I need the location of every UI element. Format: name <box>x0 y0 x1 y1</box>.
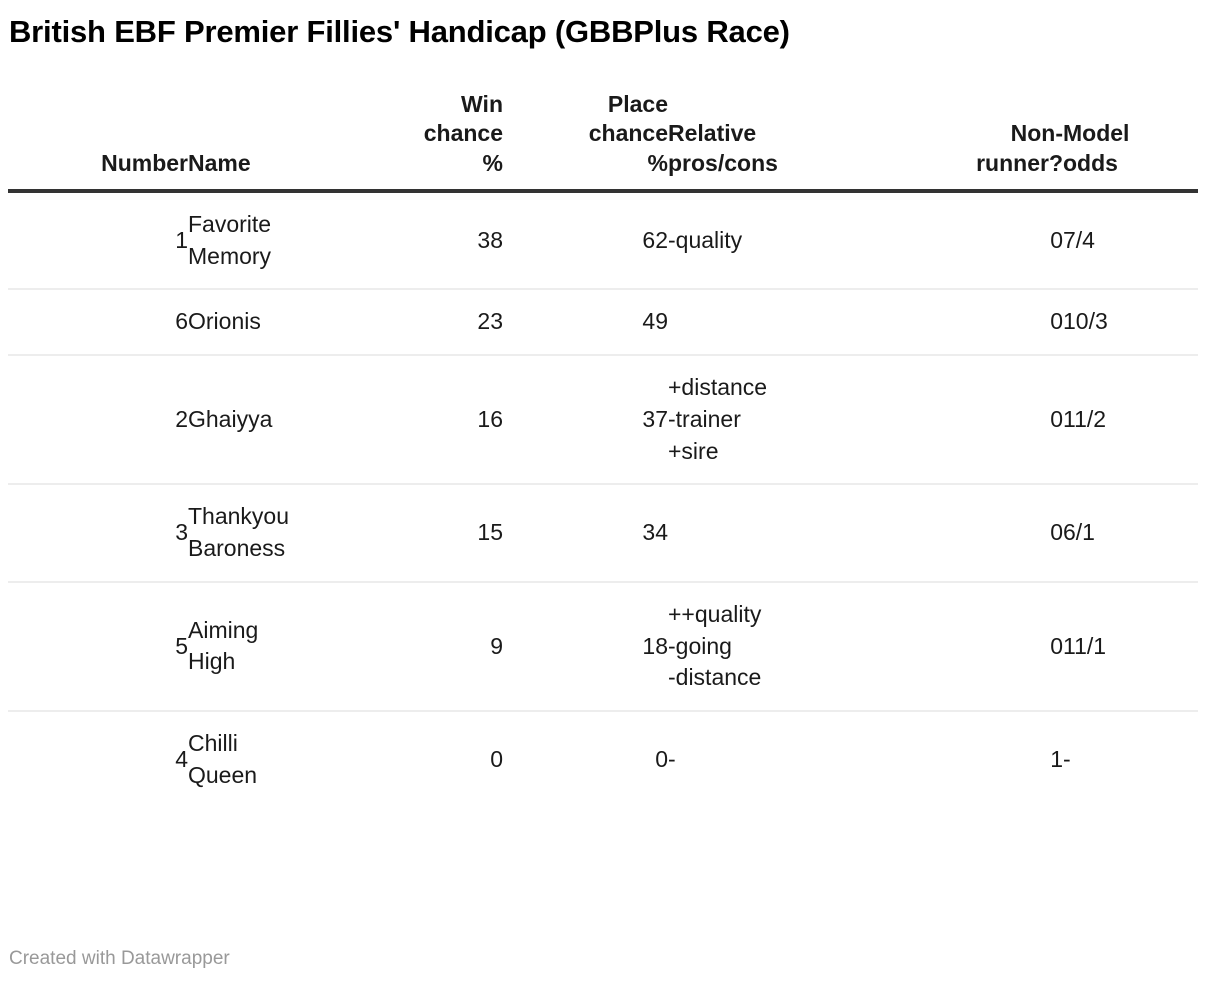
cell-win_chance: 0 <box>383 711 503 807</box>
table-row: 4Chilli Queen00-1- <box>8 711 1198 807</box>
cell-value: 2 <box>175 406 188 432</box>
cell-non_runner: 0 <box>918 355 1063 484</box>
cell-number: 4 <box>8 711 188 807</box>
cell-value: 38 <box>477 227 503 253</box>
cell-number: 6 <box>8 289 188 355</box>
cell-win_chance: 15 <box>383 484 503 581</box>
cell-value: 0 <box>1050 633 1063 659</box>
cell-value: 34 <box>642 519 668 545</box>
cell-pros_cons <box>668 484 918 581</box>
cell-value: - <box>1063 746 1071 772</box>
column-header-win_chance[interactable]: Win chance % <box>383 90 503 191</box>
cell-name: Chilli Queen <box>188 711 383 807</box>
column-header-label: Non- runner? <box>976 120 1063 175</box>
cell-value: Aiming High <box>188 617 258 675</box>
column-header-place_chance[interactable]: Place chance % <box>503 90 668 191</box>
cell-value: 11/1 <box>1063 633 1106 659</box>
cell-model_odds: 11/1 <box>1063 582 1198 711</box>
cell-value: 11/2 <box>1063 406 1106 432</box>
cell-value: 1 <box>1050 746 1063 772</box>
cell-value: 0 <box>1050 308 1063 334</box>
cell-value: 10/3 <box>1063 308 1108 334</box>
cell-value: 62 <box>642 227 668 253</box>
cell-model_odds: 10/3 <box>1063 289 1198 355</box>
cell-place_chance: 37 <box>503 355 668 484</box>
column-header-label: Relative pros/cons <box>668 120 778 175</box>
cell-value: 0 <box>1050 519 1063 545</box>
cell-value: Ghaiyya <box>188 406 272 432</box>
column-header-non_runner[interactable]: Non- runner? <box>918 90 1063 191</box>
cell-model_odds: 7/4 <box>1063 191 1198 289</box>
cell-pros_cons: -quality <box>668 191 918 289</box>
cell-model_odds: - <box>1063 711 1198 807</box>
cell-place_chance: 34 <box>503 484 668 581</box>
cell-value: 0 <box>655 746 668 772</box>
cell-value: - <box>668 746 676 772</box>
cell-value: 6 <box>175 308 188 334</box>
table-row: 3Thankyou Baroness153406/1 <box>8 484 1198 581</box>
cell-name: Favorite Memory <box>188 191 383 289</box>
table-header: NumberNameWin chance %Place chance %Rela… <box>8 90 1198 191</box>
cell-win_chance: 9 <box>383 582 503 711</box>
column-header-label: Number <box>101 150 188 176</box>
cell-value: 23 <box>477 308 503 334</box>
cell-place_chance: 18 <box>503 582 668 711</box>
table-row: 6Orionis2349010/3 <box>8 289 1198 355</box>
cell-number: 1 <box>8 191 188 289</box>
cell-value: -quality <box>668 227 742 253</box>
table-chart-container: British EBF Premier Fillies' Handicap (G… <box>0 0 1220 986</box>
column-header-label: Model odds <box>1063 120 1129 175</box>
cell-value: 6/1 <box>1063 519 1095 545</box>
cell-value: 49 <box>642 308 668 334</box>
cell-value: Thankyou Baroness <box>188 503 289 561</box>
column-header-label: Name <box>188 150 251 176</box>
cell-value: 18 <box>642 633 668 659</box>
cell-number: 2 <box>8 355 188 484</box>
cell-name: Aiming High <box>188 582 383 711</box>
table-row: 1Favorite Memory3862-quality07/4 <box>8 191 1198 289</box>
column-header-label: Place chance % <box>589 91 668 176</box>
cell-non_runner: 1 <box>918 711 1063 807</box>
cell-value: Chilli Queen <box>188 730 257 788</box>
cell-win_chance: 23 <box>383 289 503 355</box>
cell-value: 4 <box>175 746 188 772</box>
column-header-model_odds[interactable]: Model odds <box>1063 90 1198 191</box>
page-title: British EBF Premier Fillies' Handicap (G… <box>8 0 1212 50</box>
column-header-name[interactable]: Name <box>188 90 383 191</box>
cell-place_chance: 49 <box>503 289 668 355</box>
cell-value: ++quality -going -distance <box>668 601 761 690</box>
cell-value: 16 <box>477 406 503 432</box>
table-row: 5Aiming High918++quality -going -distanc… <box>8 582 1198 711</box>
cell-non_runner: 0 <box>918 582 1063 711</box>
cell-value: 0 <box>1050 406 1063 432</box>
cell-win_chance: 38 <box>383 191 503 289</box>
cell-number: 3 <box>8 484 188 581</box>
cell-pros_cons: - <box>668 711 918 807</box>
cell-value: 0 <box>1050 227 1063 253</box>
cell-pros_cons: ++quality -going -distance <box>668 582 918 711</box>
column-header-pros_cons[interactable]: Relative pros/cons <box>668 90 918 191</box>
cell-value: Orionis <box>188 308 261 334</box>
column-header-number[interactable]: Number <box>8 90 188 191</box>
race-runners-table: NumberNameWin chance %Place chance %Rela… <box>8 90 1198 808</box>
cell-value: +distance -trainer +sire <box>668 374 767 463</box>
cell-non_runner: 0 <box>918 289 1063 355</box>
cell-value: 0 <box>490 746 503 772</box>
table-row: 2Ghaiyya1637+distance -trainer +sire011/… <box>8 355 1198 484</box>
datawrapper-credit: Created with Datawrapper <box>9 948 230 970</box>
cell-place_chance: 62 <box>503 191 668 289</box>
cell-value: 1 <box>175 227 188 253</box>
cell-name: Thankyou Baroness <box>188 484 383 581</box>
cell-value: Favorite Memory <box>188 211 271 269</box>
cell-place_chance: 0 <box>503 711 668 807</box>
cell-model_odds: 6/1 <box>1063 484 1198 581</box>
cell-non_runner: 0 <box>918 484 1063 581</box>
cell-non_runner: 0 <box>918 191 1063 289</box>
cell-value: 3 <box>175 519 188 545</box>
cell-number: 5 <box>8 582 188 711</box>
table-header-row: NumberNameWin chance %Place chance %Rela… <box>8 90 1198 191</box>
cell-value: 37 <box>642 406 668 432</box>
cell-pros_cons <box>668 289 918 355</box>
cell-model_odds: 11/2 <box>1063 355 1198 484</box>
cell-name: Ghaiyya <box>188 355 383 484</box>
cell-pros_cons: +distance -trainer +sire <box>668 355 918 484</box>
table-body: 1Favorite Memory3862-quality07/46Orionis… <box>8 191 1198 808</box>
cell-value: 9 <box>490 633 503 659</box>
cell-value: 5 <box>175 633 188 659</box>
cell-value: 7/4 <box>1063 227 1095 253</box>
cell-value: 15 <box>477 519 503 545</box>
column-header-label: Win chance % <box>424 91 503 176</box>
cell-win_chance: 16 <box>383 355 503 484</box>
cell-name: Orionis <box>188 289 383 355</box>
